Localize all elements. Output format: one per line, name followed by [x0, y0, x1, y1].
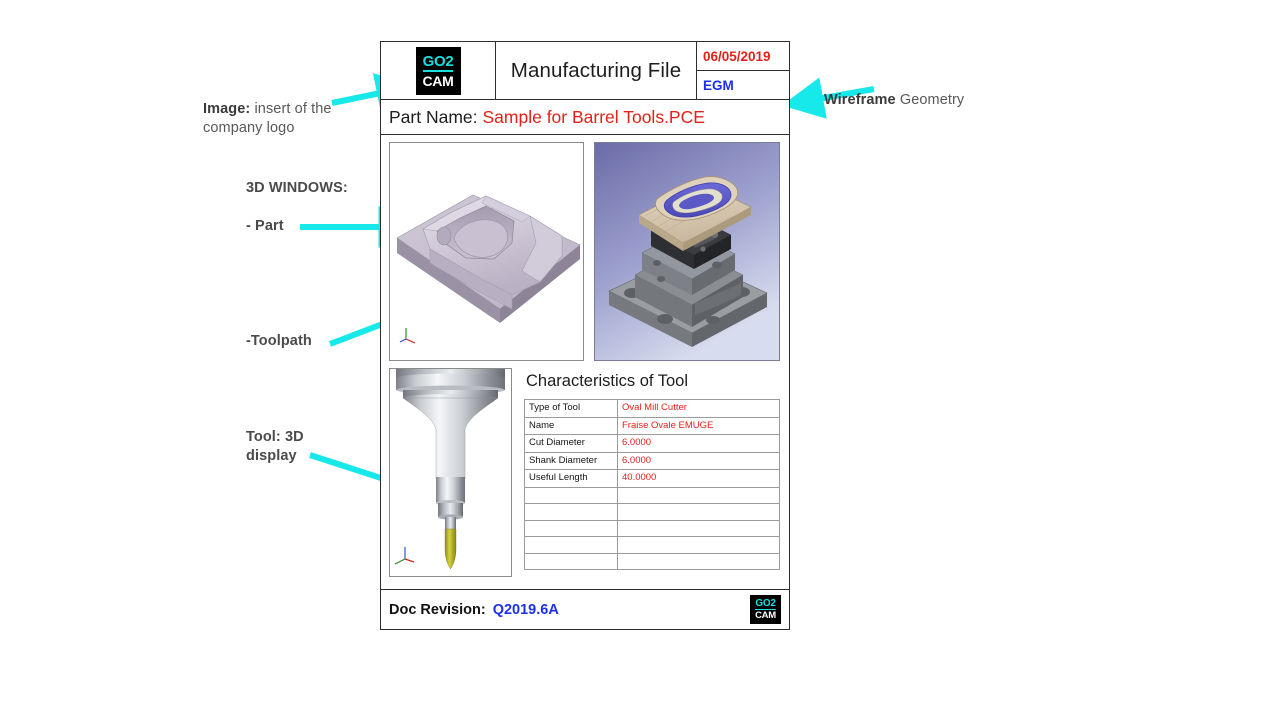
part-name-label: Part Name:	[389, 107, 478, 128]
views-row	[389, 142, 781, 361]
manufacturing-file-sheet: GO2 CAM Manufacturing File 06/05/2019 EG…	[380, 41, 790, 630]
characteristic-value: 40.0000	[618, 470, 780, 488]
characteristic-key	[525, 553, 618, 570]
tool-3d-geometry	[390, 369, 511, 576]
logo-line-1: GO2	[755, 599, 775, 610]
characteristic-value	[618, 520, 780, 537]
characteristic-key: Useful Length	[525, 470, 618, 488]
characteristic-value: Oval Mill Cutter	[618, 400, 780, 418]
characteristic-key	[525, 487, 618, 504]
table-row: Cut Diameter6.0000	[525, 435, 780, 453]
machining-setup-3d-view[interactable]	[594, 142, 780, 361]
axis-triad-icon	[400, 328, 415, 343]
table-row: Useful Length40.0000	[525, 470, 780, 488]
annotation-image-logo-bold: Image:	[203, 101, 250, 117]
table-row: Type of ToolOval Mill Cutter	[525, 400, 780, 418]
table-row	[525, 504, 780, 521]
part-name-band: Part Name: Sample for Barrel Tools.PCE	[381, 100, 789, 135]
annotation-wireframe-rest: Geometry	[896, 92, 965, 108]
header-logo-cell: GO2 CAM	[381, 42, 496, 99]
characteristic-key	[525, 537, 618, 554]
document-author: EGM	[697, 71, 789, 99]
characteristics-title: Characteristics of Tool	[526, 372, 781, 391]
characteristics-table: Type of ToolOval Mill CutterNameFraise O…	[524, 399, 780, 570]
part-3d-view[interactable]	[389, 142, 584, 361]
annotation-tool: Tool: 3D display	[246, 428, 366, 466]
annotation-part: - Part	[246, 217, 284, 236]
characteristic-value: Fraise Ovale EMUGE	[618, 417, 780, 435]
part-name-value: Sample for Barrel Tools.PCE	[483, 107, 705, 128]
characteristic-key: Name	[525, 417, 618, 435]
go2cam-logo: GO2 CAM	[416, 47, 461, 95]
characteristic-value	[618, 537, 780, 554]
doc-revision-value: Q2019.6A	[493, 602, 559, 618]
table-row: NameFraise Ovale EMUGE	[525, 417, 780, 435]
tool-3d-view[interactable]	[389, 368, 512, 577]
characteristic-key: Type of Tool	[525, 400, 618, 418]
characteristics-panel: Characteristics of Tool Type of ToolOval…	[524, 368, 781, 577]
part-3d-geometry	[390, 143, 583, 360]
logo-line-2: CAM	[423, 72, 454, 88]
annotation-wireframe: Wireframe Geometry	[824, 72, 1054, 110]
table-row: Shank Diameter6.0000	[525, 452, 780, 470]
doc-revision-label: Doc Revision:	[389, 602, 486, 618]
characteristic-value	[618, 504, 780, 521]
sheet-header: GO2 CAM Manufacturing File 06/05/2019 EG…	[381, 42, 789, 100]
characteristic-key	[525, 520, 618, 537]
logo-line-1: GO2	[423, 54, 454, 72]
table-row	[525, 487, 780, 504]
document-date: 06/05/2019	[697, 42, 789, 71]
annotation-wireframe-bold: Wireframe	[824, 92, 896, 108]
logo-line-2: CAM	[755, 610, 776, 621]
header-meta-cell: 06/05/2019 EGM	[697, 42, 789, 99]
characteristic-key	[525, 504, 618, 521]
sheet-body: Characteristics of Tool Type of ToolOval…	[381, 135, 789, 577]
annotation-3d-windows: 3D WINDOWS:	[246, 179, 348, 198]
table-row	[525, 520, 780, 537]
characteristic-value: 6.0000	[618, 435, 780, 453]
document-title: Manufacturing File	[511, 59, 681, 83]
annotation-image-logo: Image: insert of the company logo	[203, 81, 353, 138]
characteristic-value	[618, 553, 780, 570]
characteristic-value: 6.0000	[618, 452, 780, 470]
table-row	[525, 537, 780, 554]
header-title-cell: Manufacturing File	[496, 42, 697, 99]
setup-3d-geometry	[595, 143, 779, 360]
table-row	[525, 553, 780, 570]
characteristic-key: Cut Diameter	[525, 435, 618, 453]
characteristic-key: Shank Diameter	[525, 452, 618, 470]
sheet-footer: Doc Revision: Q2019.6A GO2 CAM	[381, 589, 789, 629]
characteristic-value	[618, 487, 780, 504]
lower-row: Characteristics of Tool Type of ToolOval…	[389, 368, 781, 577]
annotation-toolpath: -Toolpath	[246, 332, 312, 351]
go2cam-logo-footer: GO2 CAM	[750, 595, 781, 624]
axis-triad-icon	[395, 547, 414, 564]
